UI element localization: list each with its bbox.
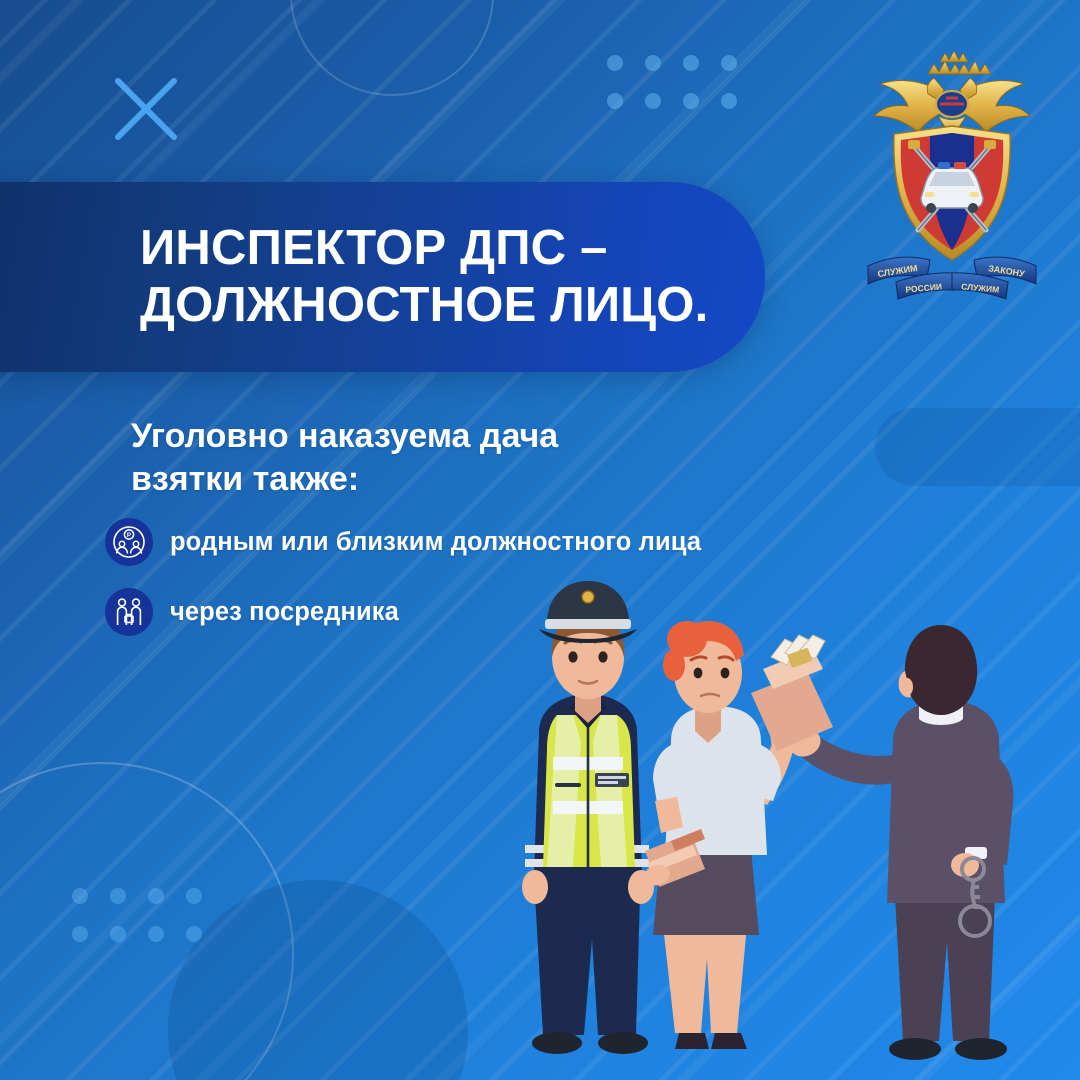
list-item-label: через посредника: [170, 598, 399, 627]
circle-outline-bottom-left: [0, 762, 294, 1080]
title-banner: ИНСПЕКТОР ДПС – ДОЛЖНОСТНОЕ ЛИЦО.: [0, 182, 765, 372]
motto-center-right: СЛУЖИМ: [961, 281, 1000, 294]
bribe-refusal-scene: [495, 565, 1080, 1080]
x-mark-decoration: [113, 76, 179, 142]
svg-text:Р: Р: [127, 532, 131, 539]
bribe-giver-man: [751, 625, 1013, 1060]
pill-decoration-right: [875, 408, 1080, 486]
traffic-police-officer: [522, 581, 654, 1054]
mvd-gibdd-emblem: СЛУЖИМ ЗАКОНУ РОССИИ СЛУЖИМ: [862, 48, 1042, 300]
double-headed-eagle-icon: [874, 51, 1030, 138]
motto-ribbon: СЛУЖИМ ЗАКОНУ РОССИИ СЛУЖИМ: [868, 257, 1036, 299]
poster-canvas: ИНСПЕКТОР ДПС – ДОЛЖНОСТНОЕ ЛИЦО. Уголов…: [0, 0, 1080, 1080]
motto-center-left: РОССИИ: [905, 281, 942, 294]
shield-icon: [894, 126, 1010, 260]
family-ruble-icon: Р: [105, 518, 153, 566]
intermediary-icon: [105, 588, 153, 636]
list-item-label: родным или близким должностного лица: [170, 528, 701, 557]
circle-fill-bottom-left: [168, 880, 468, 1080]
dot-grid-bottom: [72, 888, 202, 942]
circle-outline-top: [290, 0, 494, 96]
dot-grid-top: [607, 55, 737, 109]
money-envelope: [751, 635, 833, 751]
list-item: Р родным или близким должностного лица: [105, 518, 865, 566]
page-title: ИНСПЕКТОР ДПС – ДОЛЖНОСТНОЕ ЛИЦО.: [140, 220, 708, 335]
subtitle: Уголовно наказуема дача взятки также:: [131, 415, 558, 501]
